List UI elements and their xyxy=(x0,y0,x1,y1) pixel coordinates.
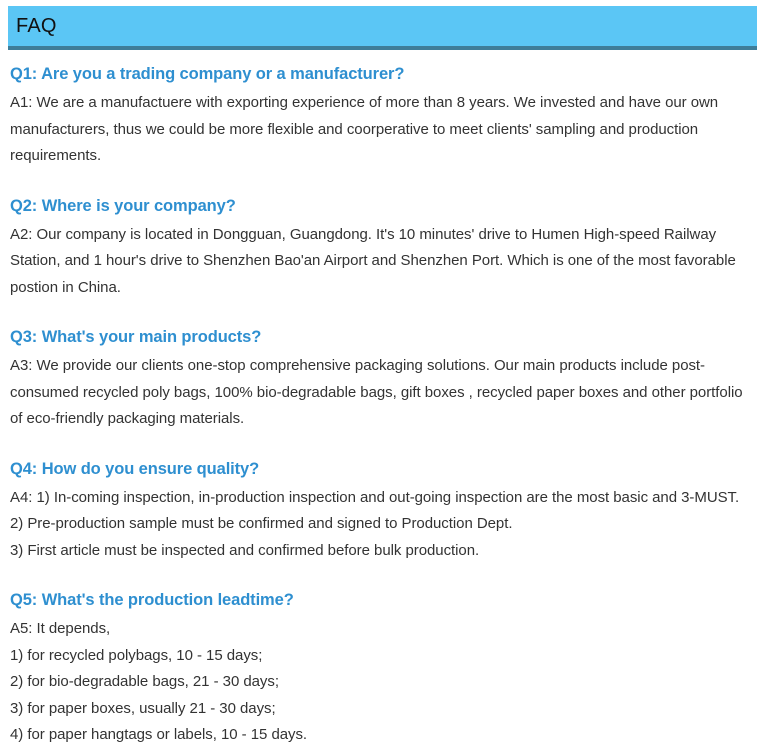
faq-item: Q2: Where is your company? A2: Our compa… xyxy=(10,194,755,302)
faq-answer-line: A4: 1) In-coming inspection, in-producti… xyxy=(10,485,755,512)
faq-header-banner: FAQ xyxy=(8,6,757,50)
faq-list: Q1: Are you a trading company or a manuf… xyxy=(10,62,755,749)
faq-answer-line: 2) for bio-degradable bags, 21 - 30 days… xyxy=(10,669,755,696)
faq-question: Q1: Are you a trading company or a manuf… xyxy=(10,62,755,86)
faq-answer: A2: Our company is located in Dongguan, … xyxy=(10,222,755,302)
faq-page: FAQ Q1: Are you a trading company or a m… xyxy=(0,0,765,748)
faq-answer: A3: We provide our clients one-stop comp… xyxy=(10,353,755,433)
faq-question: Q2: Where is your company? xyxy=(10,194,755,218)
faq-answer: A1: We are a manufactuere with exporting… xyxy=(10,90,755,170)
faq-question: Q4: How do you ensure quality? xyxy=(10,457,755,481)
faq-answer: A4: 1) In-coming inspection, in-producti… xyxy=(10,485,755,565)
faq-item: Q4: How do you ensure quality? A4: 1) In… xyxy=(10,457,755,565)
faq-answer-line: 1) for recycled polybags, 10 - 15 days; xyxy=(10,643,755,670)
faq-question: Q5: What's the production leadtime? xyxy=(10,588,755,612)
faq-answer-line: 3) First article must be inspected and c… xyxy=(10,538,755,565)
page-title: FAQ xyxy=(8,16,57,36)
faq-answer: A5: It depends, 1) for recycled polybags… xyxy=(10,616,755,749)
faq-question: Q3: What's your main products? xyxy=(10,325,755,349)
faq-answer-line: 2) Pre-production sample must be confirm… xyxy=(10,511,755,538)
faq-answer-line: 3) for paper boxes, usually 21 - 30 days… xyxy=(10,696,755,723)
faq-item: Q1: Are you a trading company or a manuf… xyxy=(10,62,755,170)
faq-answer-line: A5: It depends, xyxy=(10,616,755,643)
faq-answer-line: A2: Our company is located in Dongguan, … xyxy=(10,222,755,302)
faq-answer-line: A3: We provide our clients one-stop comp… xyxy=(10,353,755,433)
faq-answer-line: A1: We are a manufactuere with exporting… xyxy=(10,90,755,170)
faq-item: Q5: What's the production leadtime? A5: … xyxy=(10,588,755,749)
faq-answer-line: 4) for paper hangtags or labels, 10 - 15… xyxy=(10,722,755,749)
faq-item: Q3: What's your main products? A3: We pr… xyxy=(10,325,755,433)
